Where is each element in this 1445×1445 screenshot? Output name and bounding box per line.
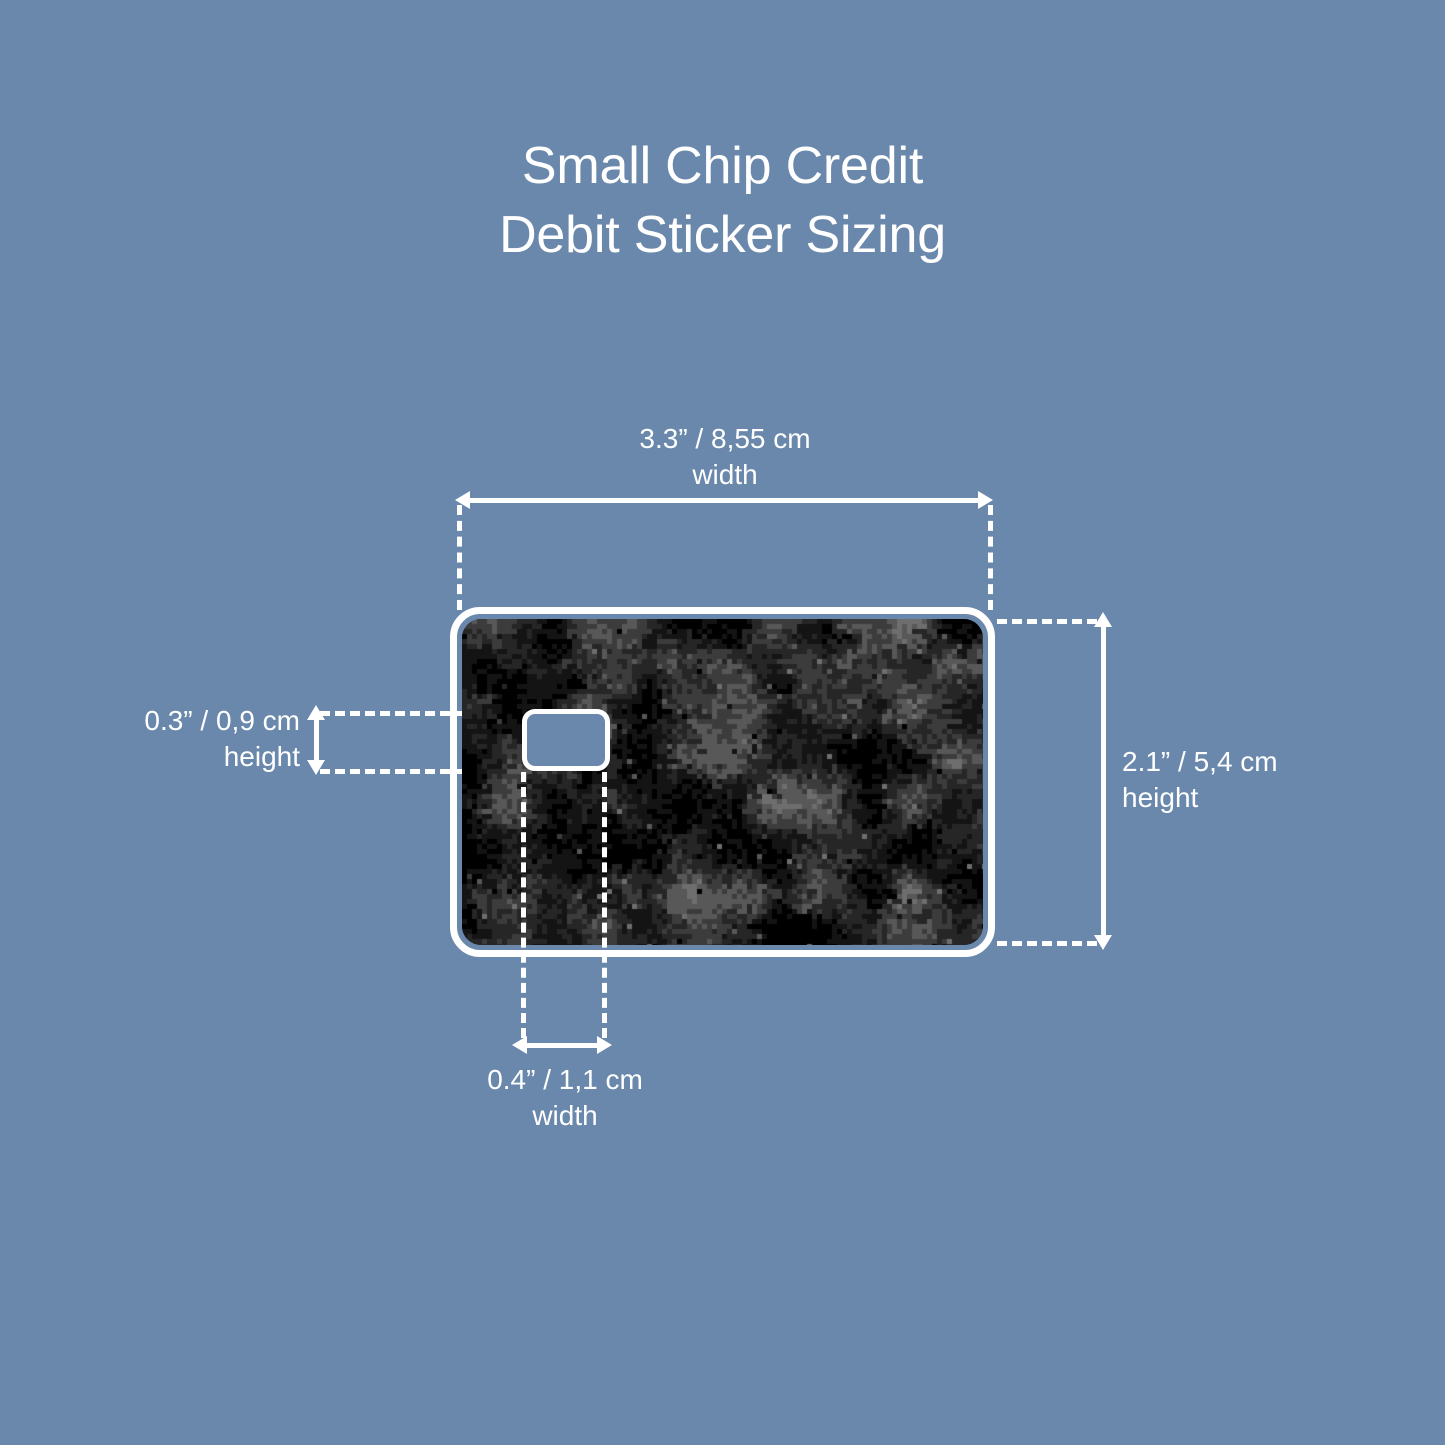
card-height-arrow <box>1092 612 1114 950</box>
chip-width-label: 0.4” / 1,1 cm width <box>455 1062 675 1134</box>
arrow-shaft <box>1101 622 1106 940</box>
page-title: Small Chip Credit Debit Sticker Sizing <box>0 132 1445 270</box>
card-outline <box>450 607 995 957</box>
chip-width-extension-left <box>521 772 526 1038</box>
card-width-extension-right <box>988 505 993 610</box>
card-width-label: 3.3” / 8,55 cm width <box>520 421 930 493</box>
chip-cutout <box>522 709 610 771</box>
card-width-arrow <box>455 489 993 511</box>
arrow-shaft <box>522 1043 602 1048</box>
sticker-sizing-diagram: Small Chip Credit Debit Sticker Sizing 3… <box>0 0 1445 1445</box>
chip-width-arrow <box>512 1034 612 1056</box>
arrow-shaft <box>314 715 319 765</box>
arrow-head-right-icon <box>597 1036 612 1054</box>
card-width-extension-left <box>457 505 462 610</box>
card-height-label: 2.1” / 5,4 cm height <box>1122 744 1362 816</box>
chip-width-extension-right <box>602 772 607 1038</box>
arrow-shaft <box>465 498 983 503</box>
card-height-extension-top <box>997 619 1097 624</box>
card-height-extension-bottom <box>997 941 1097 946</box>
chip-height-label: 0.3” / 0,9 cm height <box>60 703 300 775</box>
